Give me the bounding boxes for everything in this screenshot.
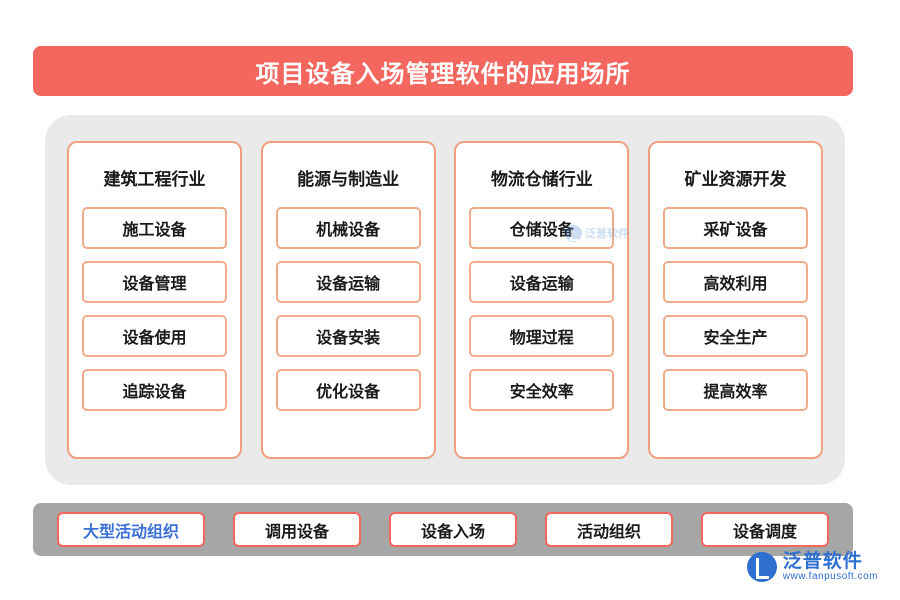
category-column: 矿业资源开发 采矿设备 高效利用 安全生产 提高效率 xyxy=(648,141,823,459)
category-item: 设备管理 xyxy=(82,261,227,303)
category-title: 矿业资源开发 xyxy=(663,165,808,190)
bottom-chip-highlight[interactable]: 大型活动组织 xyxy=(57,512,205,547)
category-title: 能源与制造业 xyxy=(276,165,421,190)
title-banner: 项目设备入场管理软件的应用场所 xyxy=(33,46,853,96)
bottom-chip[interactable]: 设备调度 xyxy=(701,512,829,547)
category-item: 机械设备 xyxy=(276,207,421,249)
category-item: 高效利用 xyxy=(663,261,808,303)
bottom-chip[interactable]: 活动组织 xyxy=(545,512,673,547)
bottom-chip-bar: 大型活动组织 调用设备 设备入场 活动组织 设备调度 xyxy=(33,503,853,556)
category-item: 设备运输 xyxy=(276,261,421,303)
category-title: 建筑工程行业 xyxy=(82,165,227,190)
brand-logo-icon xyxy=(747,552,777,582)
category-title: 物流仓储行业 xyxy=(469,165,614,190)
page-title: 项目设备入场管理软件的应用场所 xyxy=(256,54,631,89)
brand-url: www.fanpusoft.com xyxy=(783,572,878,583)
category-item: 设备安装 xyxy=(276,315,421,357)
brand-logo: 泛普软件 www.fanpusoft.com xyxy=(747,552,878,582)
category-item: 优化设备 xyxy=(276,369,421,411)
category-item: 安全生产 xyxy=(663,315,808,357)
category-column: 建筑工程行业 施工设备 设备管理 设备使用 追踪设备 xyxy=(67,141,242,459)
category-item: 仓储设备 xyxy=(469,207,614,249)
diagram-page: 项目设备入场管理软件的应用场所 建筑工程行业 施工设备 设备管理 设备使用 追踪… xyxy=(0,0,900,600)
category-item: 安全效率 xyxy=(469,369,614,411)
bottom-chip[interactable]: 设备入场 xyxy=(389,512,517,547)
brand-logo-texts: 泛普软件 www.fanpusoft.com xyxy=(783,552,878,582)
bottom-chip[interactable]: 调用设备 xyxy=(233,512,361,547)
category-item: 追踪设备 xyxy=(82,369,227,411)
category-item: 提高效率 xyxy=(663,369,808,411)
brand-name: 泛普软件 xyxy=(783,552,878,572)
category-item: 采矿设备 xyxy=(663,207,808,249)
category-columns: 建筑工程行业 施工设备 设备管理 设备使用 追踪设备 能源与制造业 机械设备 设… xyxy=(45,115,845,485)
category-item: 设备使用 xyxy=(82,315,227,357)
category-item: 施工设备 xyxy=(82,207,227,249)
category-column: 能源与制造业 机械设备 设备运输 设备安装 优化设备 xyxy=(261,141,436,459)
category-column: 物流仓储行业 仓储设备 设备运输 物理过程 安全效率 xyxy=(454,141,629,459)
category-item: 设备运输 xyxy=(469,261,614,303)
category-item: 物理过程 xyxy=(469,315,614,357)
